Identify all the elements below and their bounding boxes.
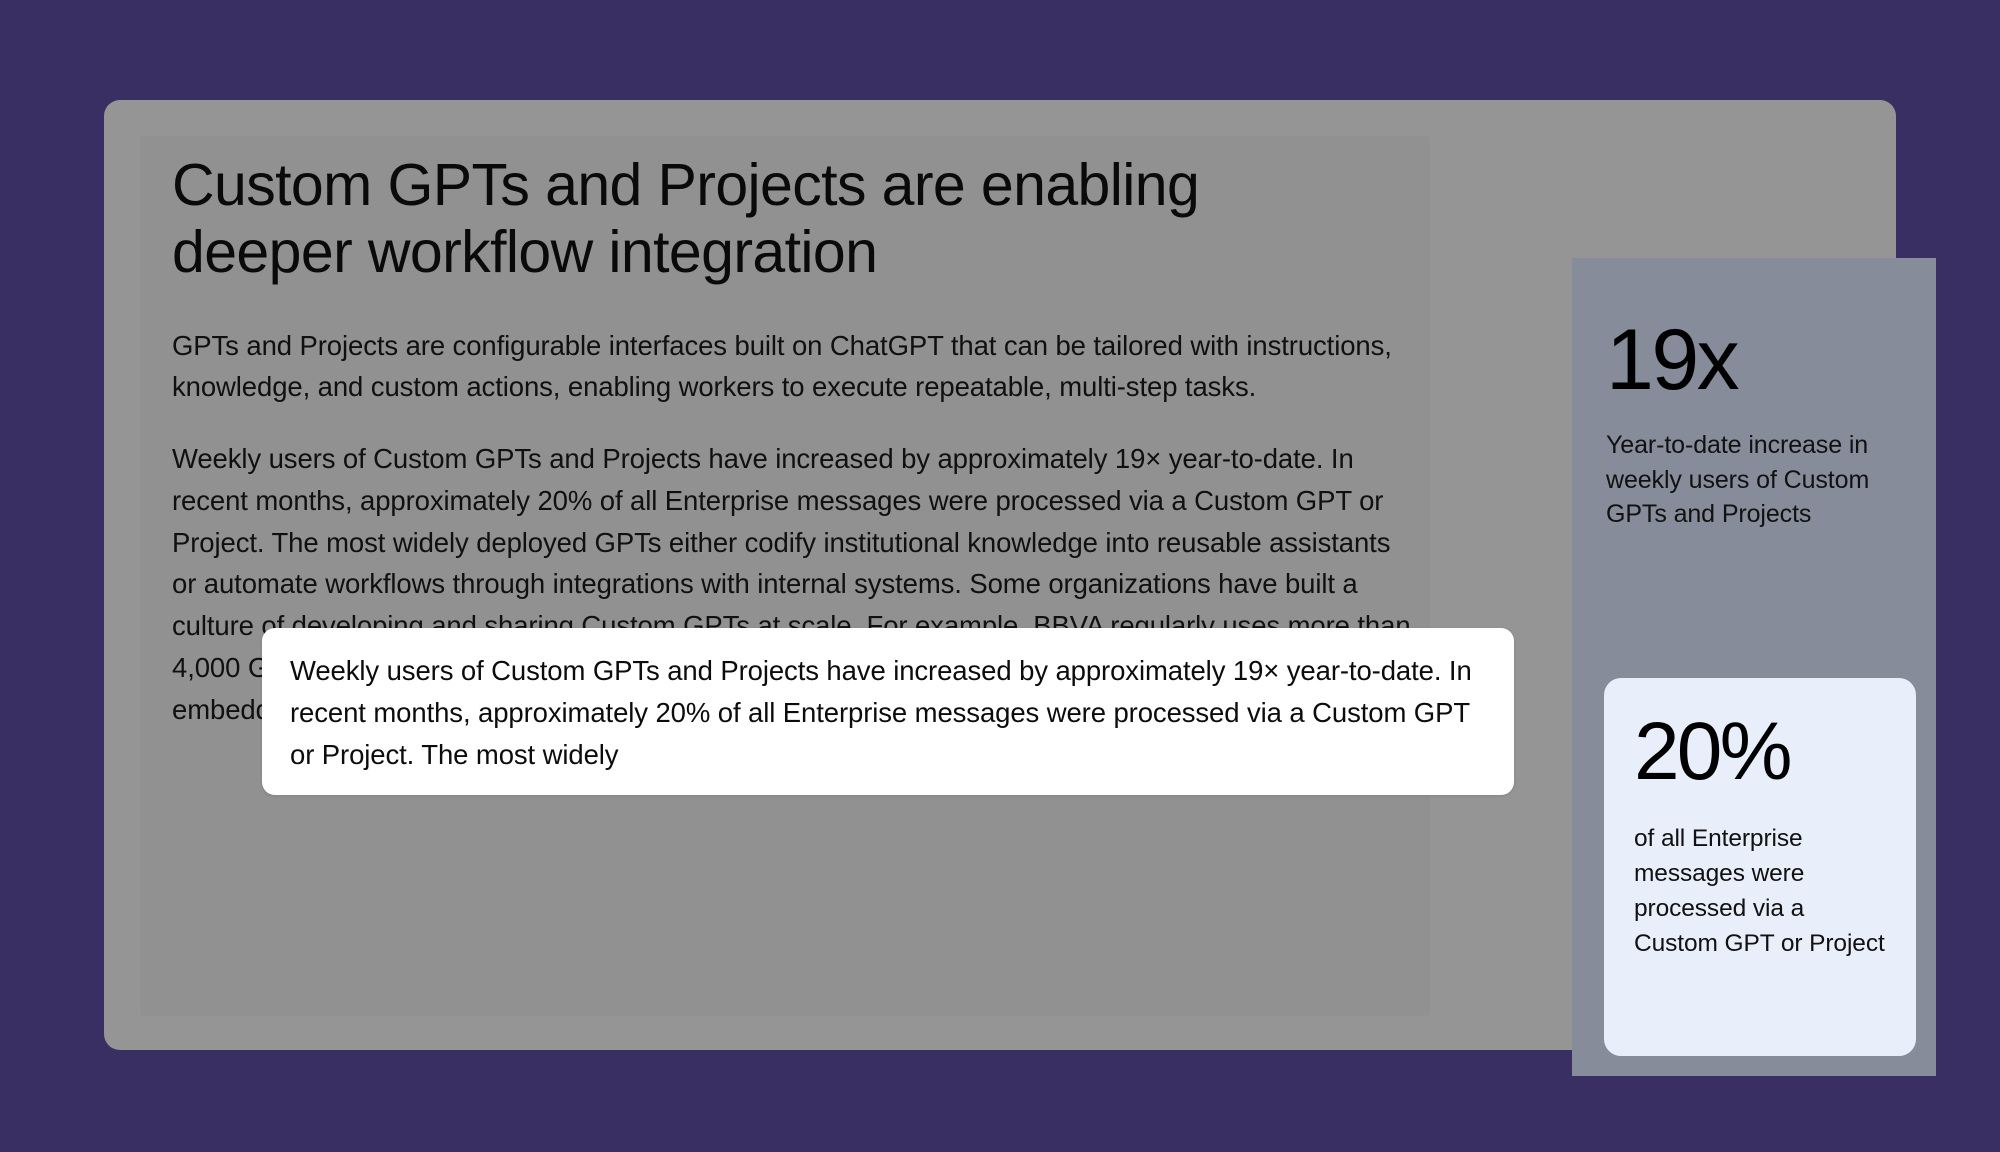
highlight-callout: Weekly users of Custom GPTs and Projects… [262,628,1514,795]
intro-paragraph: GPTs and Projects are configurable inter… [172,325,1422,409]
stat-block-19x: 19x Year-to-date increase in weekly user… [1572,318,1936,532]
stat-value-19x: 19x [1606,318,1902,402]
page-title: Custom GPTs and Projects are enabling de… [172,152,1252,287]
stat-value-20pct: 20% [1634,712,1886,792]
stats-rail: 19x Year-to-date increase in weekly user… [1572,258,1936,1076]
highlight-callout-text: Weekly users of Custom GPTs and Projects… [290,650,1486,775]
stat-label-19x: Year-to-date increase in weekly users of… [1606,428,1902,532]
stat-card-20pct: 20% of all Enterprise messages were proc… [1604,678,1916,1056]
stat-label-20pct: of all Enterprise messages were processe… [1634,822,1886,961]
slide-card: Custom GPTs and Projects are enabling de… [104,100,1896,1050]
